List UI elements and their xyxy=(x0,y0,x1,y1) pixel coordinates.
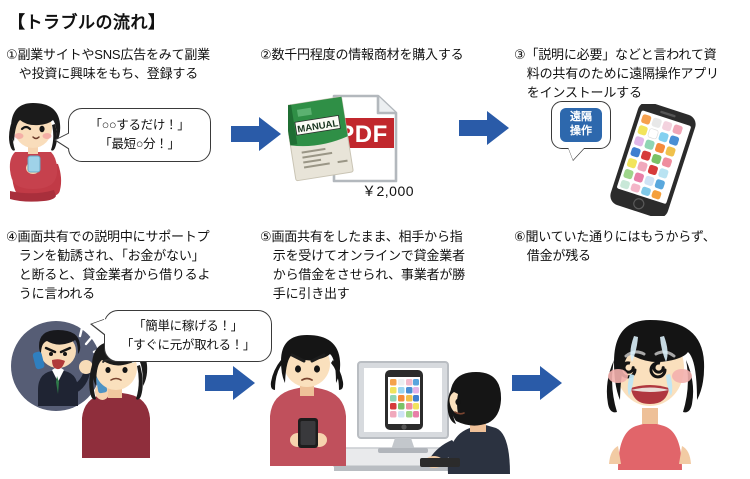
illustration-shocked-crying-woman xyxy=(590,300,710,475)
illustration-manual-book-and-pdf-file: PDF MANUAL xyxy=(288,92,406,193)
remote-control-app-icon: 遠隔 操作 xyxy=(560,108,602,142)
bubble-tail xyxy=(92,319,106,335)
panel-4-caption: ④画面共有での説明中にサポートプ ランを勧誘され、「お金がない」 と断ると、貸金… xyxy=(6,228,258,303)
panel-5-caption: ⑤画面共有をしたまま、相手から指 示を受けてオンラインで貸金業者 から借金をさせ… xyxy=(260,228,510,303)
arrow-step2-to-step3 xyxy=(459,110,509,146)
bubble-tail xyxy=(56,133,70,149)
illustration-screen-share-woman-and-operator xyxy=(262,322,510,479)
panel-1-speech-bubble: 「○○するだけ！」 「最短○分！」 xyxy=(68,108,211,162)
illustration-woman-sitting-with-smartphone xyxy=(2,96,64,207)
arrow-step4-to-step5 xyxy=(205,365,255,401)
panel-1-bubble-text: 「○○するだけ！」 「最短○分！」 xyxy=(90,116,190,154)
panel-3-caption: ③「説明に必要」などと言われて資 料の共有のために遠隔操作アプリ をインストール… xyxy=(514,46,750,103)
panel-1-caption: ①副業サイトやSNS広告をみて副業 や投資に興味をもち、登録する xyxy=(6,46,256,84)
page-title: 【トラブルの流れ】 xyxy=(8,8,166,33)
panel-6-caption: ⑥聞いていた通りにはもうからず、 借金が残る xyxy=(514,228,750,266)
panel-2-price: ￥2,000 xyxy=(362,181,414,201)
panel-4-speech-bubble: 「簡単に稼げる！」 「すぐに元が取れる！」 xyxy=(104,310,272,362)
bubble-tail xyxy=(568,147,585,160)
infographic-page: 【トラブルの流れ】 ①副業サイトやSNS広告をみて副業 や投資に興味をもち、登録… xyxy=(0,0,750,477)
arrow-step1-to-step2 xyxy=(231,116,281,152)
panel-4-bubble-text: 「簡単に稼げる！」 「すぐに元が取れる！」 xyxy=(121,317,255,355)
arrow-step5-to-step6 xyxy=(512,365,562,401)
illustration-smartphone-with-app-icons xyxy=(607,104,699,221)
panel-2-caption: ②数千円程度の情報商材を購入する xyxy=(260,46,510,65)
panel-3-remote-app-bubble: 遠隔 操作 xyxy=(551,101,611,149)
